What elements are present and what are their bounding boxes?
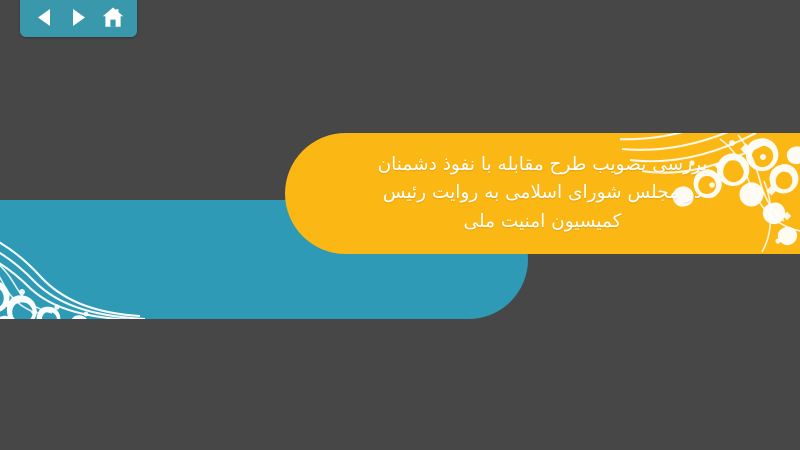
title-line-2: در مجلس شورای اسلامی به روایت رئیس [383,180,702,206]
next-button[interactable] [64,4,94,30]
home-icon [102,7,124,28]
triangle-left-icon [36,8,53,27]
title-line-3: کمیسیون امنیت ملی [464,209,622,235]
previous-button[interactable] [29,4,59,30]
triangle-right-icon [70,8,87,27]
title-banner: بررسی تصویب طرح مقابله با نفوذ دشمنان در… [285,133,800,254]
slide-stage: بررسی تصویب طرح مقابله با نفوذ دشمنان در… [0,0,800,450]
slide-title: بررسی تصویب طرح مقابله با نفوذ دشمنان در… [285,133,800,254]
navigation-toolbar [20,0,137,37]
home-button[interactable] [98,4,128,30]
title-line-1: بررسی تصویب طرح مقابله با نفوذ دشمنان [378,152,708,178]
arabesque-ornament-teal [0,200,170,319]
